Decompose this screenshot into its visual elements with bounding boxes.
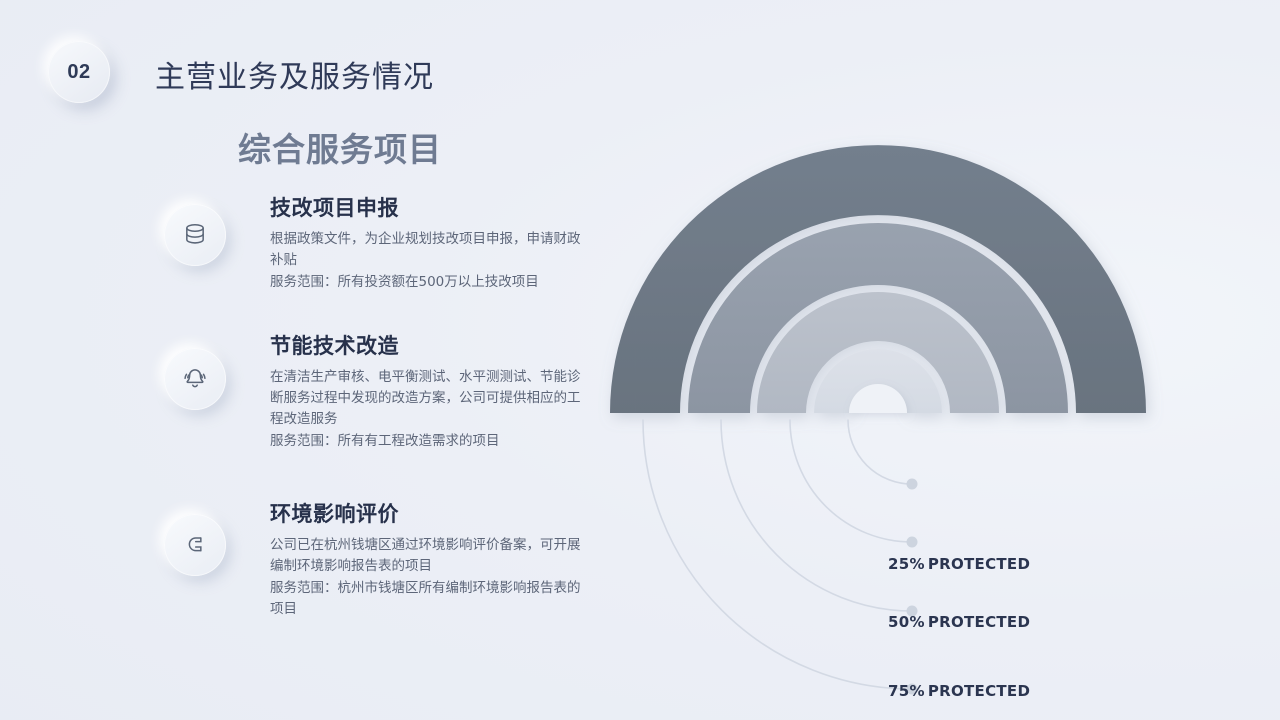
leader-line-group [643,420,912,689]
legend-label-75: 75%PROTECTED [888,682,1030,700]
legend-text-75: PROTECTED [928,682,1030,700]
list-item-scope: 服务范围：所有投资额在500万以上技改项目 [270,272,590,293]
legend-percent-75: 75% [888,682,925,700]
leader-dot-group [907,479,918,695]
legend-text-50: PROTECTED [928,613,1030,631]
concentric-ring-chart: 25%PROTECTED 50%PROTECTED 75%PROTECTED 1… [560,120,1260,680]
page-header: 02 主营业务及服务情况 [0,0,1280,135]
list-item-body: 环境影响评价 公司已在杭州钱塘区通过环境影响评价备案，可开展编制环境影响报告表的… [270,498,590,620]
list-item[interactable]: 技改项目申报 根据政策文件，为企业规划技改项目申报，申请财政补贴 服务范围：所有… [160,192,590,310]
list-item-scope: 服务范围：杭州市钱塘区所有编制环境影响报告表的项目 [270,578,590,620]
list-item-description: 公司已在杭州钱塘区通过环境影响评价备案，可开展编制环境影响报告表的项目 [270,535,590,577]
list-item-description: 根据政策文件，为企业规划技改项目申报，申请财政补贴 [270,229,590,271]
legend-percent-25: 25% [888,555,925,573]
list-item[interactable]: 节能技术改造 在清洁生产审核、电平衡测试、水平测测试、节能诊断服务过程中发现的改… [160,330,590,478]
feature-list: 技改项目申报 根据政策文件，为企业规划技改项目申报，申请财政补贴 服务范围：所有… [160,192,590,658]
legend-label-25: 25%PROTECTED [888,555,1030,573]
list-item-body: 技改项目申报 根据政策文件，为企业规划技改项目申报，申请财政补贴 服务范围：所有… [270,192,590,293]
list-item-title: 技改项目申报 [270,192,590,222]
database-icon [164,204,226,266]
page-title: 主营业务及服务情况 [155,52,434,96]
list-item-description: 在清洁生产审核、电平衡测试、水平测测试、节能诊断服务过程中发现的改造方案，公司可… [270,367,590,430]
bell-icon [164,348,226,410]
leader-dot-25 [907,479,918,490]
section-number: 02 [67,61,90,84]
list-item-title: 环境影响评价 [270,498,590,528]
leader-dot-50 [907,537,918,548]
ring-chart-svg [560,120,1260,680]
legend-percent-50: 50% [888,613,925,631]
section-title: 综合服务项目 [238,123,442,171]
list-item-scope: 服务范围：所有有工程改造需求的项目 [270,431,590,452]
section-number-badge: 02 [48,41,110,103]
list-item-title: 节能技术改造 [270,330,590,360]
ring-group [610,145,1146,413]
legend-text-25: PROTECTED [928,555,1030,573]
legend-label-50: 50%PROTECTED [888,613,1030,631]
magnet-icon [164,514,226,576]
list-item-body: 节能技术改造 在清洁生产审核、电平衡测试、水平测测试、节能诊断服务过程中发现的改… [270,330,590,452]
list-item[interactable]: 环境影响评价 公司已在杭州钱塘区通过环境影响评价备案，可开展编制环境影响报告表的… [160,498,590,638]
leader-line-25 [848,420,912,484]
leader-line-75 [721,420,912,611]
